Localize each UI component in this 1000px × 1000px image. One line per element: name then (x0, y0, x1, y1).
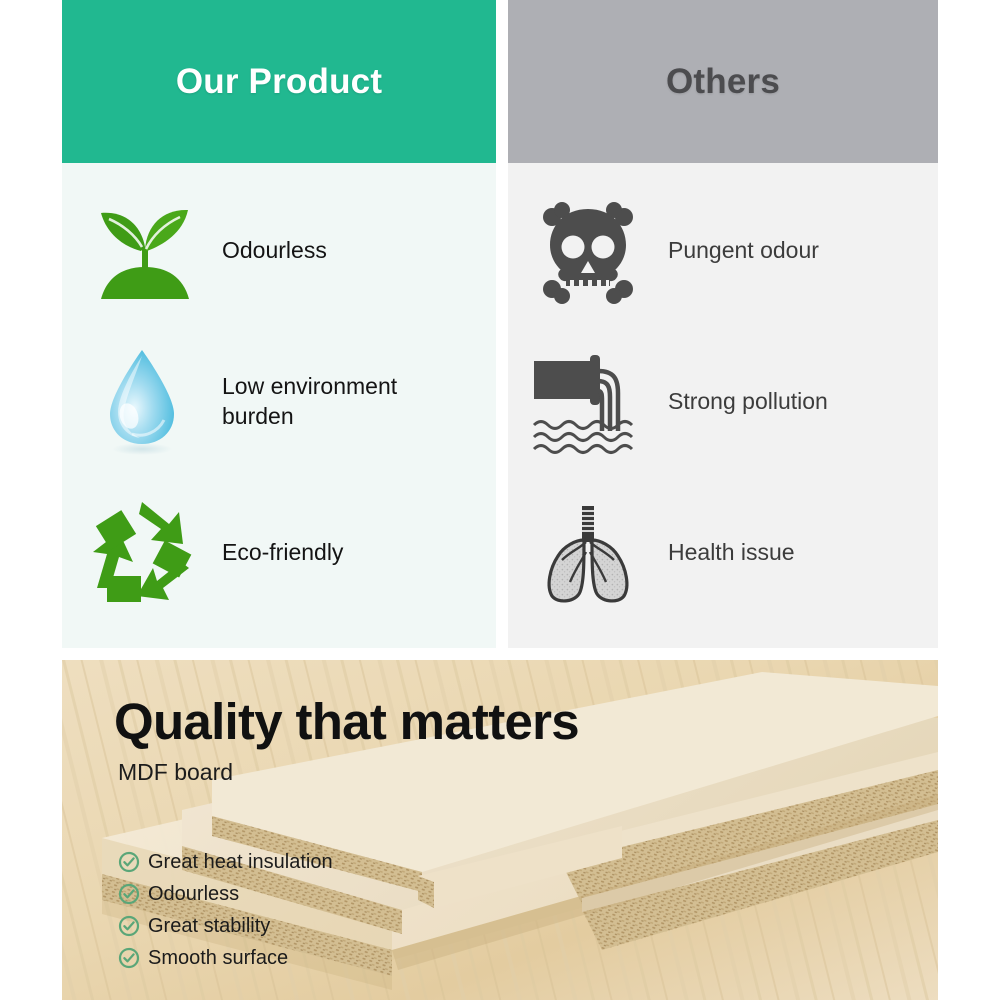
column-others: Others (508, 0, 938, 648)
feature-row: Strong pollution (508, 327, 938, 477)
check-circle-icon (118, 946, 148, 970)
check-circle-icon (118, 882, 148, 906)
list-item: Great heat insulation (118, 850, 333, 874)
column-body-our-product: Odourless (62, 163, 496, 648)
banner-title: Quality that matters (114, 696, 579, 747)
check-circle-icon (118, 850, 148, 874)
feature-label: Odourless (222, 236, 327, 265)
banner-text-block: Quality that matters MDF board (114, 696, 579, 786)
feature-label: Eco-friendly (222, 538, 343, 567)
comparison-section: Our Product Odourless (0, 0, 1000, 648)
check-circle-icon (118, 914, 148, 938)
list-item: Smooth surface (118, 946, 333, 970)
column-header-our-product: Our Product (62, 0, 496, 163)
skull-crossbones-icon (508, 191, 668, 311)
pipe-pollution-icon (508, 342, 668, 462)
column-title-our-product: Our Product (176, 62, 382, 102)
feature-row: Eco-friendly (62, 478, 496, 628)
feature-row: Low environment burden (62, 327, 496, 477)
list-item-label: Great heat insulation (148, 851, 333, 874)
feature-label: Health issue (668, 538, 795, 567)
column-our-product: Our Product Odourless (62, 0, 496, 648)
list-item: Odourless (118, 882, 333, 906)
feature-row: Health issue (508, 478, 938, 628)
recycle-icon (62, 493, 222, 613)
banner-subtitle: MDF board (118, 759, 579, 786)
feature-label: Pungent odour (668, 236, 819, 265)
feature-row: Pungent odour (508, 176, 938, 326)
feature-row: Odourless (62, 176, 496, 326)
plant-sprout-icon (62, 191, 222, 311)
list-item-label: Great stability (148, 915, 270, 938)
lungs-icon (508, 493, 668, 613)
banner-feature-list: Great heat insulation Odourless (118, 850, 333, 978)
product-comparison-page: Our Product Odourless (0, 0, 1000, 1000)
feature-label: Strong pollution (668, 387, 828, 416)
list-item-label: Smooth surface (148, 947, 288, 970)
list-item-label: Odourless (148, 883, 239, 906)
water-drop-icon (62, 342, 222, 462)
list-item: Great stability (118, 914, 333, 938)
column-title-others: Others (666, 62, 780, 102)
feature-label: Low environment burden (222, 372, 452, 431)
mdf-board-banner: Quality that matters MDF board Great hea… (62, 660, 938, 1000)
column-header-others: Others (508, 0, 938, 163)
column-body-others: Pungent odour (508, 163, 938, 648)
